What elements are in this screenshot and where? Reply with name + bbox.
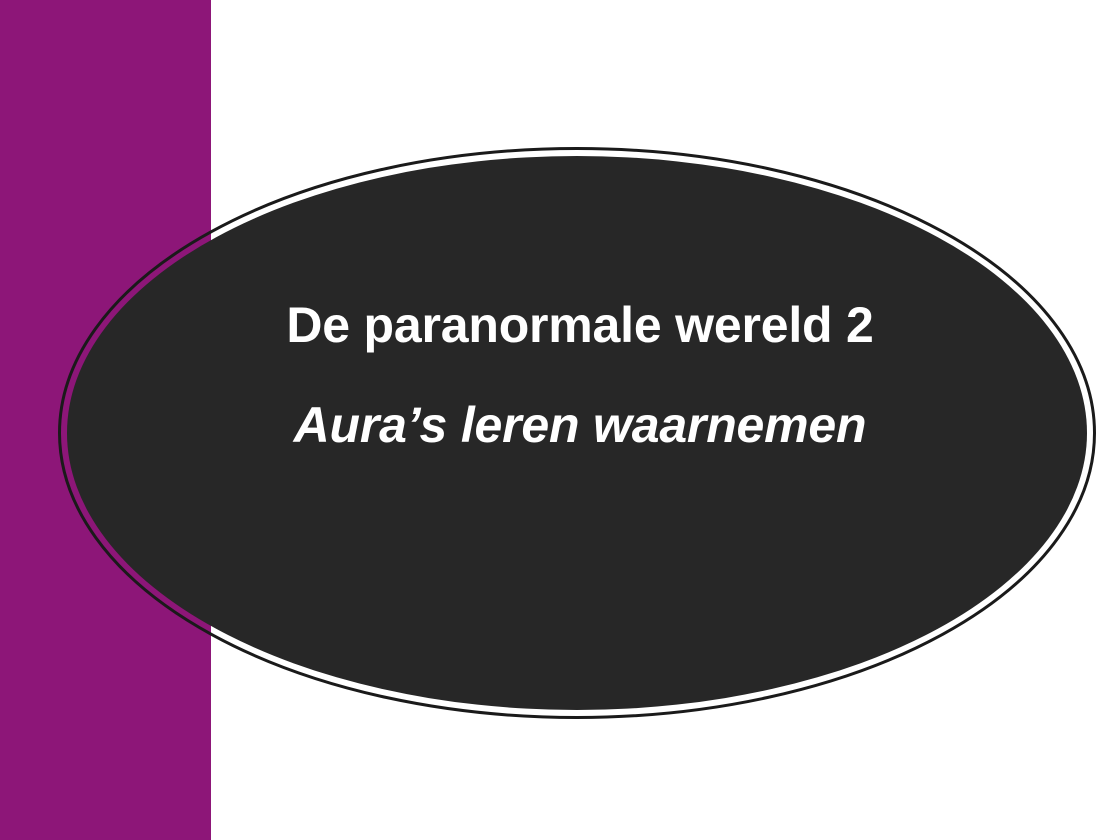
title-spacer [120, 350, 1040, 400]
slide-subtitle: Aura’s leren waarnemen [120, 400, 1040, 450]
presentation-slide: De paranormale wereld 2 Aura’s leren waa… [0, 0, 1120, 840]
oval-text-block: De paranormale wereld 2 Aura’s leren waa… [120, 300, 1040, 450]
slide-title: De paranormale wereld 2 [120, 300, 1040, 350]
